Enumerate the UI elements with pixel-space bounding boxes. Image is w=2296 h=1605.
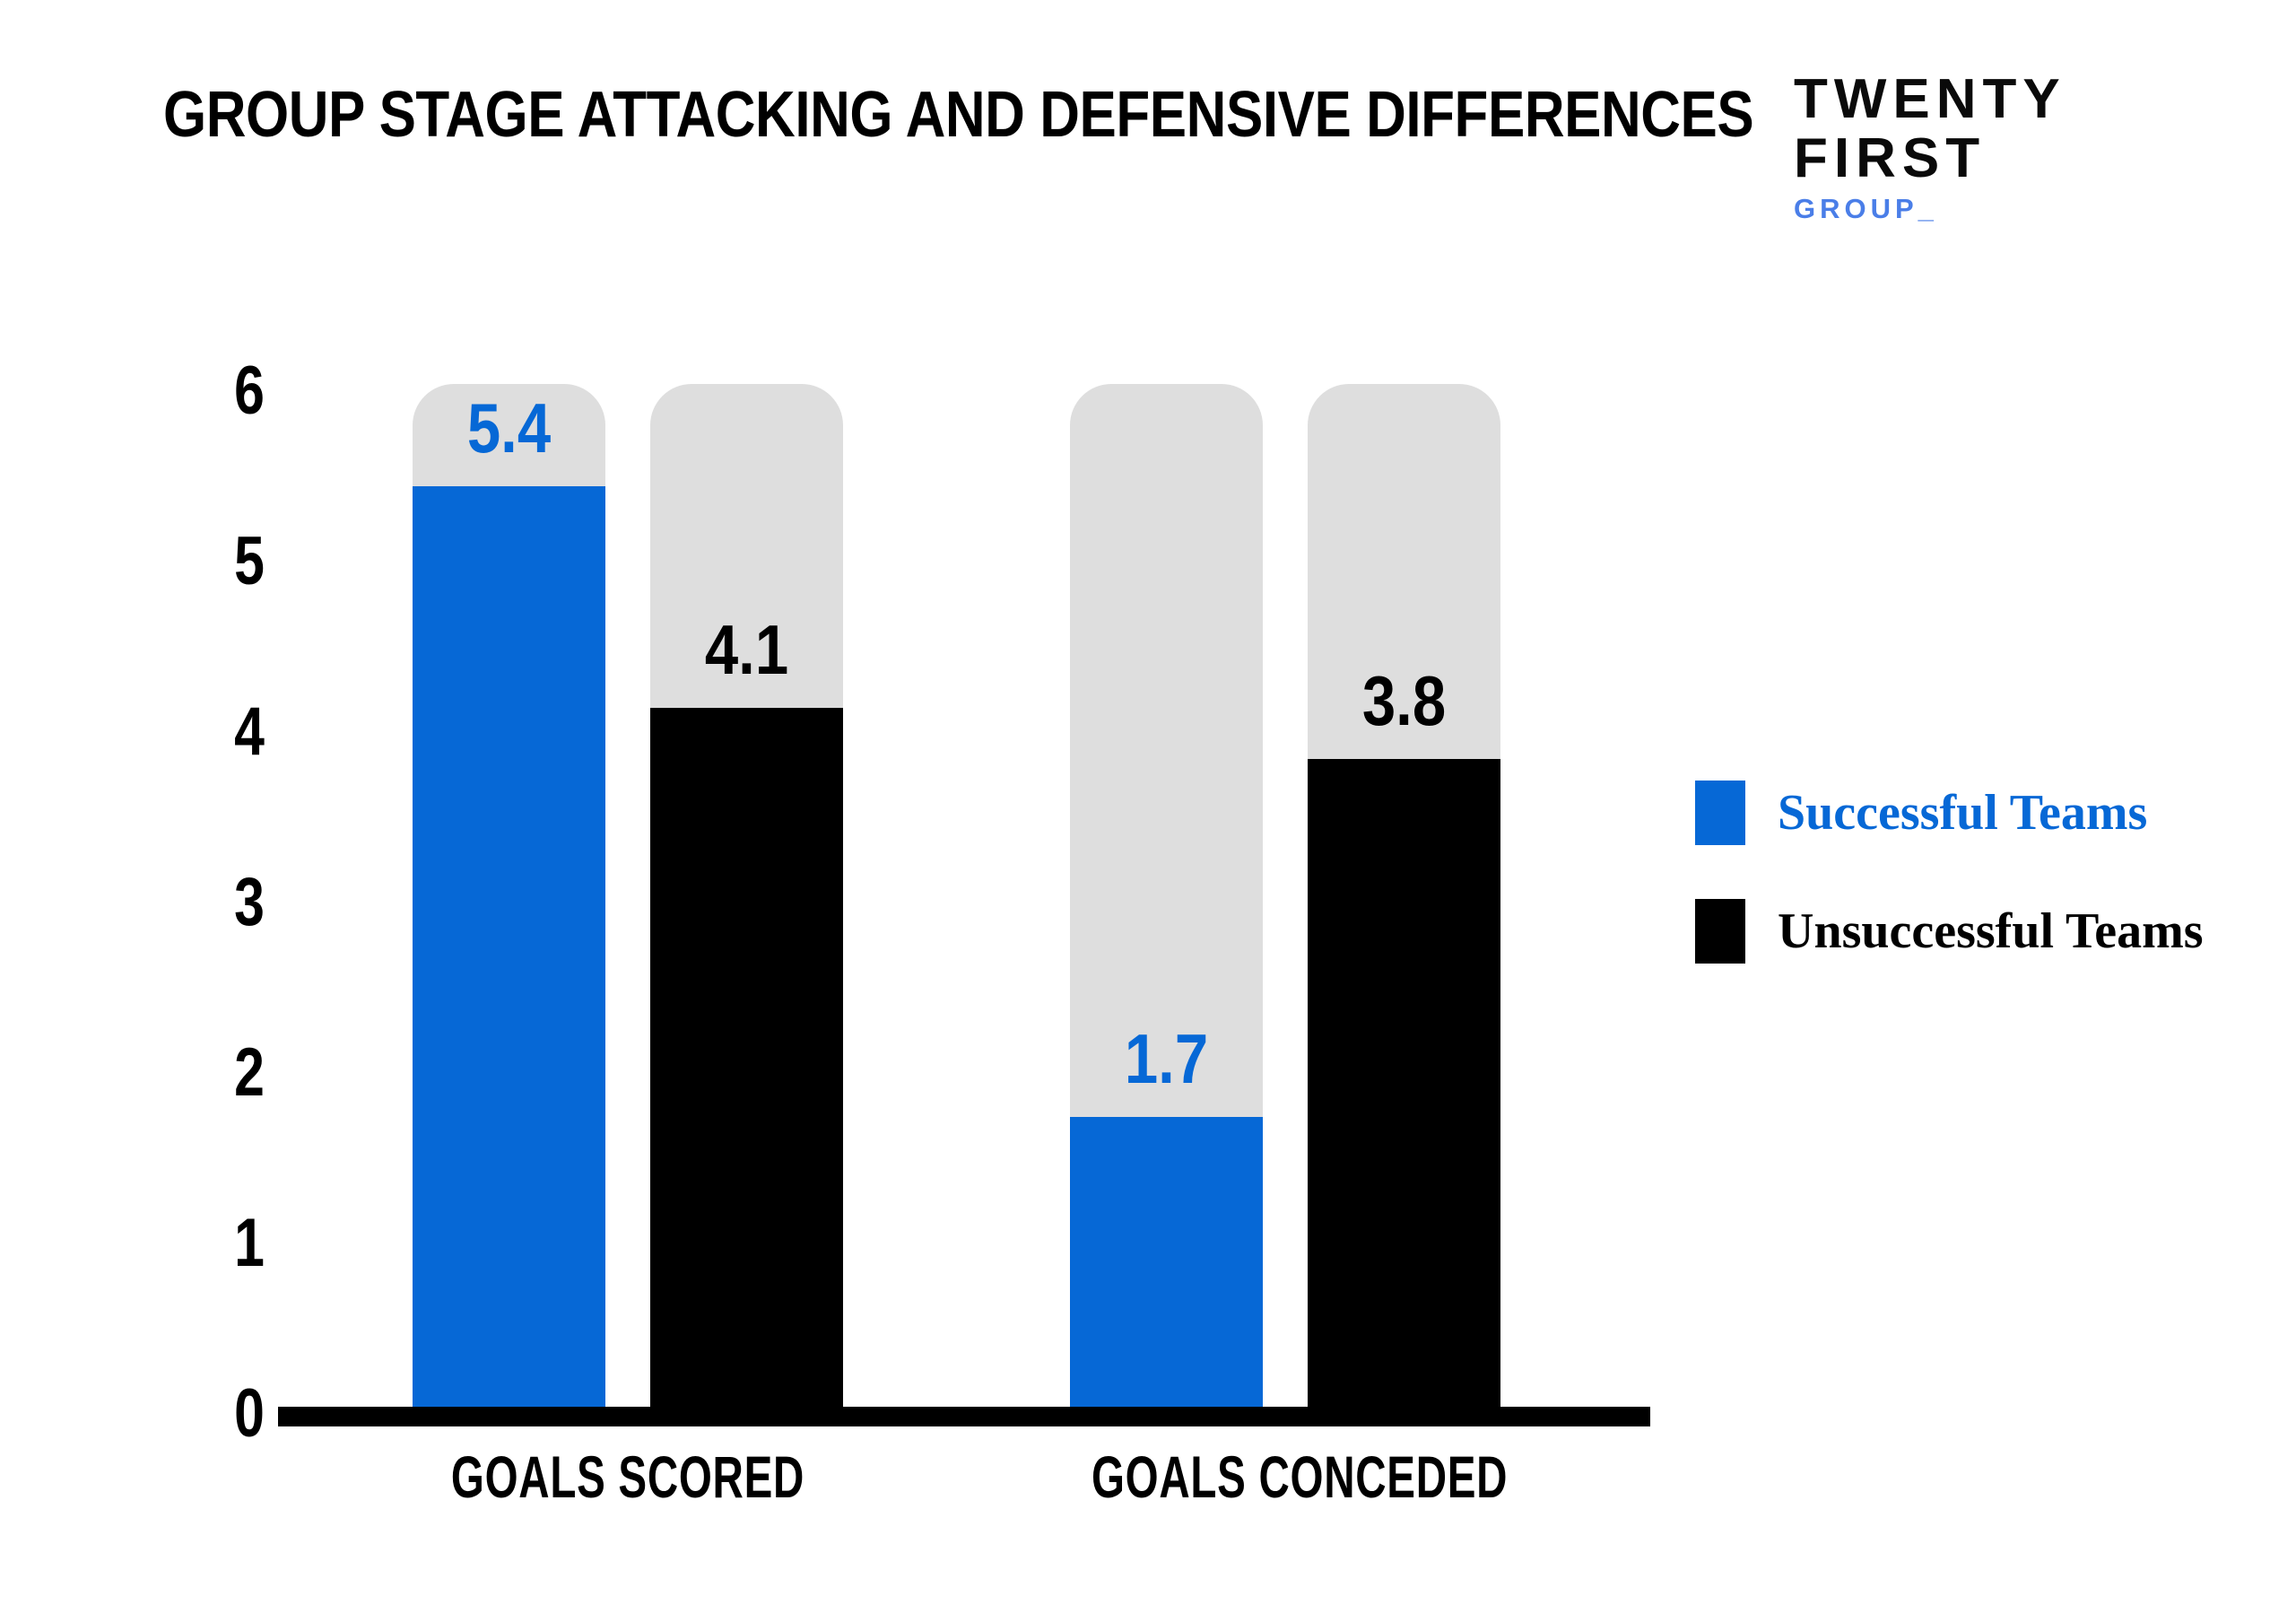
- y-tick-2: 2: [161, 1039, 265, 1107]
- legend-label-successful: Successful Teams: [1778, 786, 2147, 840]
- bar-value-label: 5.4: [426, 393, 592, 463]
- bar-value-label: 4.1: [664, 615, 830, 685]
- bar-goals-conceded-unsuccessful[interactable]: 3.8: [1308, 384, 1500, 1407]
- legend-label-unsuccessful: Unsuccessful Teams: [1778, 904, 2204, 958]
- legend-item-successful[interactable]: Successful Teams: [1695, 781, 2251, 845]
- x-axis-label-goals-scored: GOALS SCORED: [434, 1444, 822, 1509]
- x-axis-label-goals-conceded: GOALS CONCEDED: [1091, 1444, 1479, 1509]
- y-tick-5: 5: [161, 528, 265, 596]
- y-axis: 6 5 4 3 2 1 0: [135, 357, 265, 1434]
- bar-goals-conceded-successful[interactable]: 1.7: [1070, 384, 1263, 1407]
- bar-value-label: 3.8: [1321, 666, 1487, 736]
- bar-fill-unsuccessful: [650, 708, 843, 1407]
- x-axis-baseline: [278, 1407, 1650, 1426]
- bar-goals-scored-successful[interactable]: 5.4: [413, 384, 605, 1407]
- legend-item-unsuccessful[interactable]: Unsuccessful Teams: [1695, 899, 2251, 964]
- bar-value-label: 1.7: [1083, 1024, 1249, 1094]
- bar-goals-scored-unsuccessful[interactable]: 4.1: [650, 384, 843, 1407]
- y-tick-1: 1: [161, 1209, 265, 1278]
- legend: Successful Teams Unsuccessful Teams: [1695, 781, 2251, 1017]
- y-tick-3: 3: [161, 868, 265, 937]
- bar-fill-successful: [413, 486, 605, 1407]
- legend-swatch-unsuccessful: [1695, 899, 1745, 964]
- y-tick-4: 4: [161, 698, 265, 766]
- bar-group-goals-conceded: 1.7 3.8: [1070, 384, 1500, 1407]
- legend-swatch-successful: [1695, 781, 1745, 845]
- bar-group-goals-scored: 5.4 4.1: [413, 384, 843, 1407]
- bar-fill-successful: [1070, 1117, 1263, 1407]
- y-tick-6: 6: [161, 357, 265, 425]
- y-tick-0: 0: [161, 1380, 265, 1448]
- bar-fill-unsuccessful: [1308, 759, 1500, 1407]
